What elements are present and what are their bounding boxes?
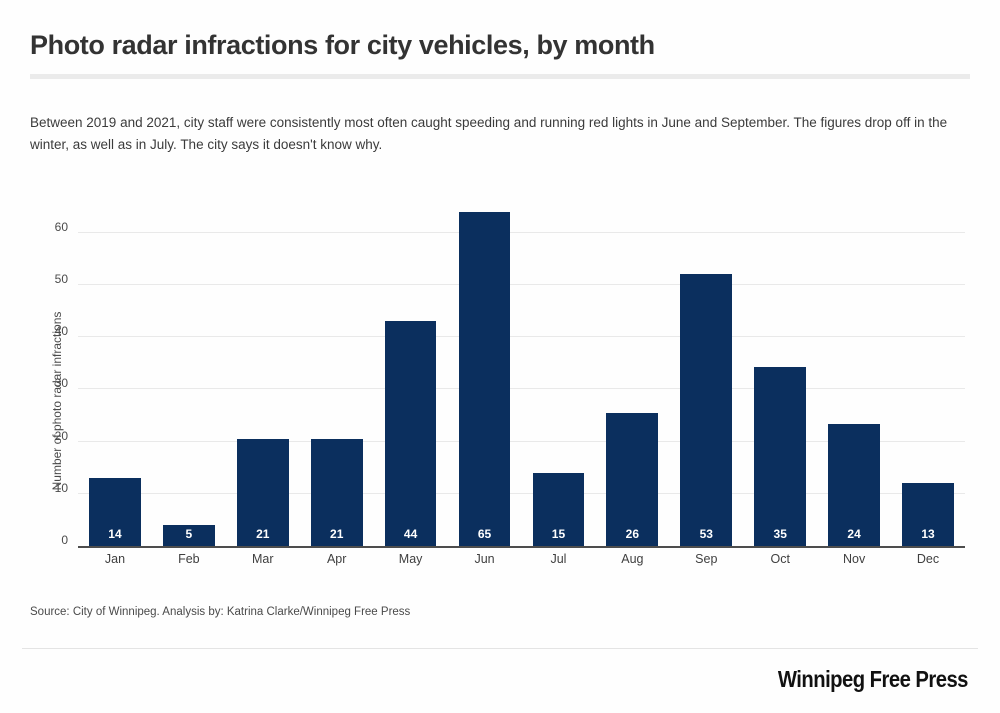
bar-slot: 14 xyxy=(78,196,152,546)
x-axis-tick-label: Jan xyxy=(78,552,152,566)
bar[interactable]: 5 xyxy=(163,525,215,546)
bar-value-label: 26 xyxy=(606,527,658,541)
bar-series: 14521214465152653352413 xyxy=(78,196,965,546)
bar-slot: 24 xyxy=(817,196,891,546)
bar-value-label: 21 xyxy=(311,527,363,541)
bar-slot: 35 xyxy=(743,196,817,546)
y-axis-title-wrap: Number of photo radar infractions xyxy=(40,196,56,546)
x-axis-tick-label: Apr xyxy=(300,552,374,566)
bar[interactable]: 26 xyxy=(606,413,658,546)
bar-value-label: 53 xyxy=(680,527,732,541)
x-axis-tick-label: Aug xyxy=(595,552,669,566)
bar-slot: 5 xyxy=(152,196,226,546)
bar[interactable]: 15 xyxy=(533,473,585,546)
bar-value-label: 65 xyxy=(459,527,511,541)
bar-slot: 15 xyxy=(522,196,596,546)
footer-divider xyxy=(22,648,978,649)
bar-slot: 13 xyxy=(891,196,965,546)
x-axis-line xyxy=(78,546,965,548)
bar[interactable]: 44 xyxy=(385,321,437,546)
bar-slot: 26 xyxy=(595,196,669,546)
bar-value-label: 5 xyxy=(163,527,215,541)
y-axis-tick-label: 30 xyxy=(55,376,68,390)
chart-page: Photo radar infractions for city vehicle… xyxy=(0,0,1000,713)
chart-subtitle: Between 2019 and 2021, city staff were c… xyxy=(30,112,950,156)
gridline xyxy=(78,545,965,546)
bar[interactable]: 14 xyxy=(89,478,141,546)
y-axis-tick-label: 20 xyxy=(55,429,68,443)
bar[interactable]: 24 xyxy=(828,424,880,546)
x-axis-tick-label: Feb xyxy=(152,552,226,566)
y-axis-tick-label: 40 xyxy=(55,324,68,338)
x-axis-tick-label: Sep xyxy=(669,552,743,566)
x-axis-tick-label: Jun xyxy=(448,552,522,566)
bar[interactable]: 53 xyxy=(680,274,732,546)
page-title: Photo radar infractions for city vehicle… xyxy=(30,30,960,61)
bar-slot: 65 xyxy=(448,196,522,546)
title-divider xyxy=(30,74,970,79)
bar[interactable]: 13 xyxy=(902,483,954,546)
bar[interactable]: 21 xyxy=(237,439,289,546)
bar-slot: 53 xyxy=(669,196,743,546)
y-axis-tick-label: 50 xyxy=(55,272,68,286)
bar-slot: 44 xyxy=(374,196,448,546)
gridline xyxy=(78,284,965,285)
bar-value-label: 24 xyxy=(828,527,880,541)
bar-value-label: 44 xyxy=(385,527,437,541)
x-axis-tick-label: May xyxy=(374,552,448,566)
chart-gridlines xyxy=(78,196,965,546)
y-axis-title: Number of photo radar infractions xyxy=(50,236,64,566)
source-note: Source: City of Winnipeg. Analysis by: K… xyxy=(30,606,410,618)
y-axis-tick-label: 60 xyxy=(55,220,68,234)
bar[interactable]: 35 xyxy=(754,367,806,546)
gridline xyxy=(78,441,965,442)
x-axis-tick-label: Jul xyxy=(522,552,596,566)
x-axis-tick-label: Dec xyxy=(891,552,965,566)
x-axis-tick-label: Oct xyxy=(743,552,817,566)
bar-value-label: 14 xyxy=(89,527,141,541)
x-axis-tick-label: Mar xyxy=(226,552,300,566)
gridline xyxy=(78,388,965,389)
bar-value-label: 35 xyxy=(754,527,806,541)
bar[interactable]: 65 xyxy=(459,212,511,546)
gridline xyxy=(78,336,965,337)
y-axis-tick-labels: 0102030405060 xyxy=(0,196,78,546)
publisher-logo: Winnipeg Free Press xyxy=(778,666,968,693)
bar[interactable]: 21 xyxy=(311,439,363,546)
bar-value-label: 13 xyxy=(902,527,954,541)
bar-value-label: 15 xyxy=(533,527,585,541)
y-axis-tick-label: 10 xyxy=(55,481,68,495)
x-axis-tick-labels: JanFebMarAprMayJunJulAugSepOctNovDec xyxy=(78,552,965,574)
bar-value-label: 21 xyxy=(237,527,289,541)
gridline xyxy=(78,232,965,233)
gridline xyxy=(78,493,965,494)
bar-slot: 21 xyxy=(226,196,300,546)
x-axis-tick-label: Nov xyxy=(817,552,891,566)
bar-slot: 21 xyxy=(300,196,374,546)
y-axis-tick-label: 0 xyxy=(61,533,68,547)
